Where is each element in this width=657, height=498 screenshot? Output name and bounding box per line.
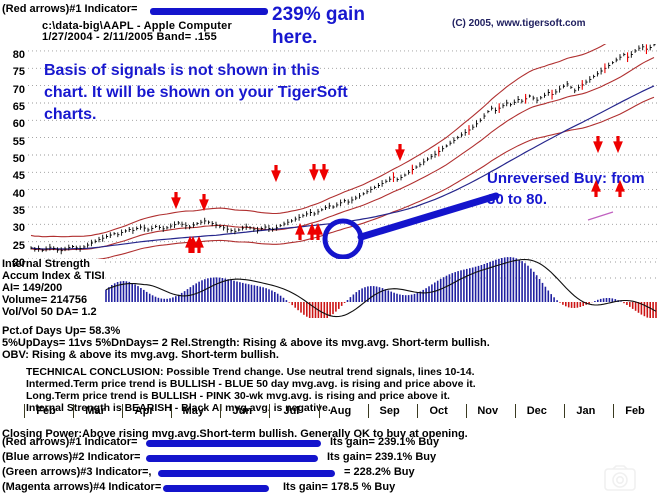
month-x-axis: FebMarAprMayJunJulAugSepOctNovDecJanFeb xyxy=(28,404,657,420)
footer-indicator-bar xyxy=(163,485,269,492)
price-y-tick: 30 xyxy=(13,223,25,233)
price-y-tick: 45 xyxy=(13,171,25,181)
footer-indicator-label: (Magenta arrows)#4 Indicator= xyxy=(2,481,161,493)
statistic-line: Internal Strength xyxy=(2,258,90,270)
sell-arrow-down-icon xyxy=(312,164,317,177)
conclusion-line: TECHNICAL CONCLUSION: Possible Trend cha… xyxy=(26,366,475,378)
month-label: Jan xyxy=(576,405,595,417)
conclusion-line: Intermed.Term price trend is BULLISH - B… xyxy=(26,378,476,390)
price-y-tick: 65 xyxy=(13,102,25,112)
header-indicator1-label: (Red arrows)#1 Indicator= xyxy=(2,3,137,15)
footer-indicator-gain: Its gain= 239.1% Buy xyxy=(327,451,436,463)
month-label: Feb xyxy=(36,405,56,417)
month-label: Sep xyxy=(379,405,399,417)
price-chart xyxy=(28,44,657,259)
lower-band-line xyxy=(31,97,654,259)
header-indicator1-bar xyxy=(150,8,268,15)
footer-indicator-bar xyxy=(146,455,318,462)
price-y-tick: 25 xyxy=(13,241,25,251)
month-label: Nov xyxy=(477,405,498,417)
month-tick xyxy=(564,404,565,418)
accum-index-tisi-chart xyxy=(105,256,657,318)
price-y-tick: 40 xyxy=(13,189,25,199)
sell-arrow-down-icon xyxy=(398,144,403,157)
month-label: Jun xyxy=(233,405,253,417)
month-label: Aug xyxy=(330,405,351,417)
month-label: Feb xyxy=(625,405,645,417)
buy-arrow-up-icon xyxy=(618,184,623,197)
sell-arrow-down-icon xyxy=(174,192,179,205)
price-y-tick: 75 xyxy=(13,67,25,77)
footer-indicator-gain: Its gain= 239.1% Buy xyxy=(330,436,439,448)
footer-indicator-gain: Its gain= 178.5 % Buy xyxy=(283,481,395,493)
statistic-line: Pct.of Days Up= 58.3% xyxy=(2,325,120,337)
statistic-line: Volume= 214756 xyxy=(2,294,87,306)
annotation-gain: 239% gain here. xyxy=(272,3,412,49)
copyright-notice: (C) 2005, www.tigersoft.com xyxy=(452,18,586,29)
month-label: Jul xyxy=(283,405,299,417)
footer-indicator-bar xyxy=(158,470,335,477)
price-y-tick: 55 xyxy=(13,137,25,147)
footer-indicator-bar xyxy=(146,440,321,447)
statistic-line: 5%UpDays= 11vs 5%DnDays= 2 Rel.Strength:… xyxy=(2,337,490,349)
month-tick xyxy=(515,404,516,418)
price-y-tick: 80 xyxy=(13,50,25,60)
month-tick xyxy=(269,404,270,418)
month-tick xyxy=(171,404,172,418)
month-tick xyxy=(368,404,369,418)
month-tick xyxy=(417,404,418,418)
buy-arrow-up-icon xyxy=(594,184,599,197)
buy-signal-circle xyxy=(325,221,361,257)
sell-arrow-down-icon xyxy=(322,164,327,177)
footer-indicator-label: (Red arrows)#1 Indicator= xyxy=(2,436,137,448)
buy-arrow-up-icon xyxy=(197,240,202,253)
month-tick xyxy=(613,404,614,418)
conclusion-line: Long.Term price trend is BULLISH - PINK … xyxy=(26,390,450,402)
statistic-line: OBV: Rising & above its mvg.avg. Short-t… xyxy=(2,349,279,361)
footer-indicator-label: (Green arrows)#3 Indicator=, xyxy=(2,466,151,478)
price-y-axis: 80757065605550454035302520 xyxy=(0,44,28,259)
footer-indicator-label: (Blue arrows)#2 Indicator= xyxy=(2,451,140,463)
upper-band-line xyxy=(31,44,654,237)
camera-watermark-icon xyxy=(596,462,644,494)
statistic-line: AI= 149/200 xyxy=(2,282,62,294)
long-term-mavg-line xyxy=(588,212,613,220)
month-tick xyxy=(73,404,74,418)
sell-arrow-down-icon xyxy=(274,165,279,178)
footer-indicator-gain: = 228.2% Buy xyxy=(344,466,415,478)
month-label: Apr xyxy=(135,405,154,417)
price-y-tick: 60 xyxy=(13,119,25,129)
month-tick xyxy=(319,404,320,418)
price-y-tick: 50 xyxy=(13,154,25,164)
buy-arrow-up-icon xyxy=(316,227,321,240)
chart-date-range-line: 1/27/2004 - 2/11/2005 Band= .155 xyxy=(42,31,217,43)
buy-arrow-up-icon xyxy=(298,227,303,240)
sell-arrow-down-icon xyxy=(202,194,207,207)
statistic-line: Accum Index & TISI xyxy=(2,270,105,282)
month-tick xyxy=(122,404,123,418)
month-tick xyxy=(466,404,467,418)
month-label: Mar xyxy=(85,405,105,417)
month-label: May xyxy=(183,405,204,417)
tisi-moving-average-line xyxy=(106,260,656,317)
month-tick xyxy=(220,404,221,418)
price-y-tick: 70 xyxy=(13,85,25,95)
statistic-line: Vol/Vol 50 DA= 1.2 xyxy=(2,306,97,318)
month-label: Oct xyxy=(429,405,447,417)
month-label: Dec xyxy=(527,405,547,417)
month-tick xyxy=(24,404,25,418)
price-y-tick: 35 xyxy=(13,206,25,216)
